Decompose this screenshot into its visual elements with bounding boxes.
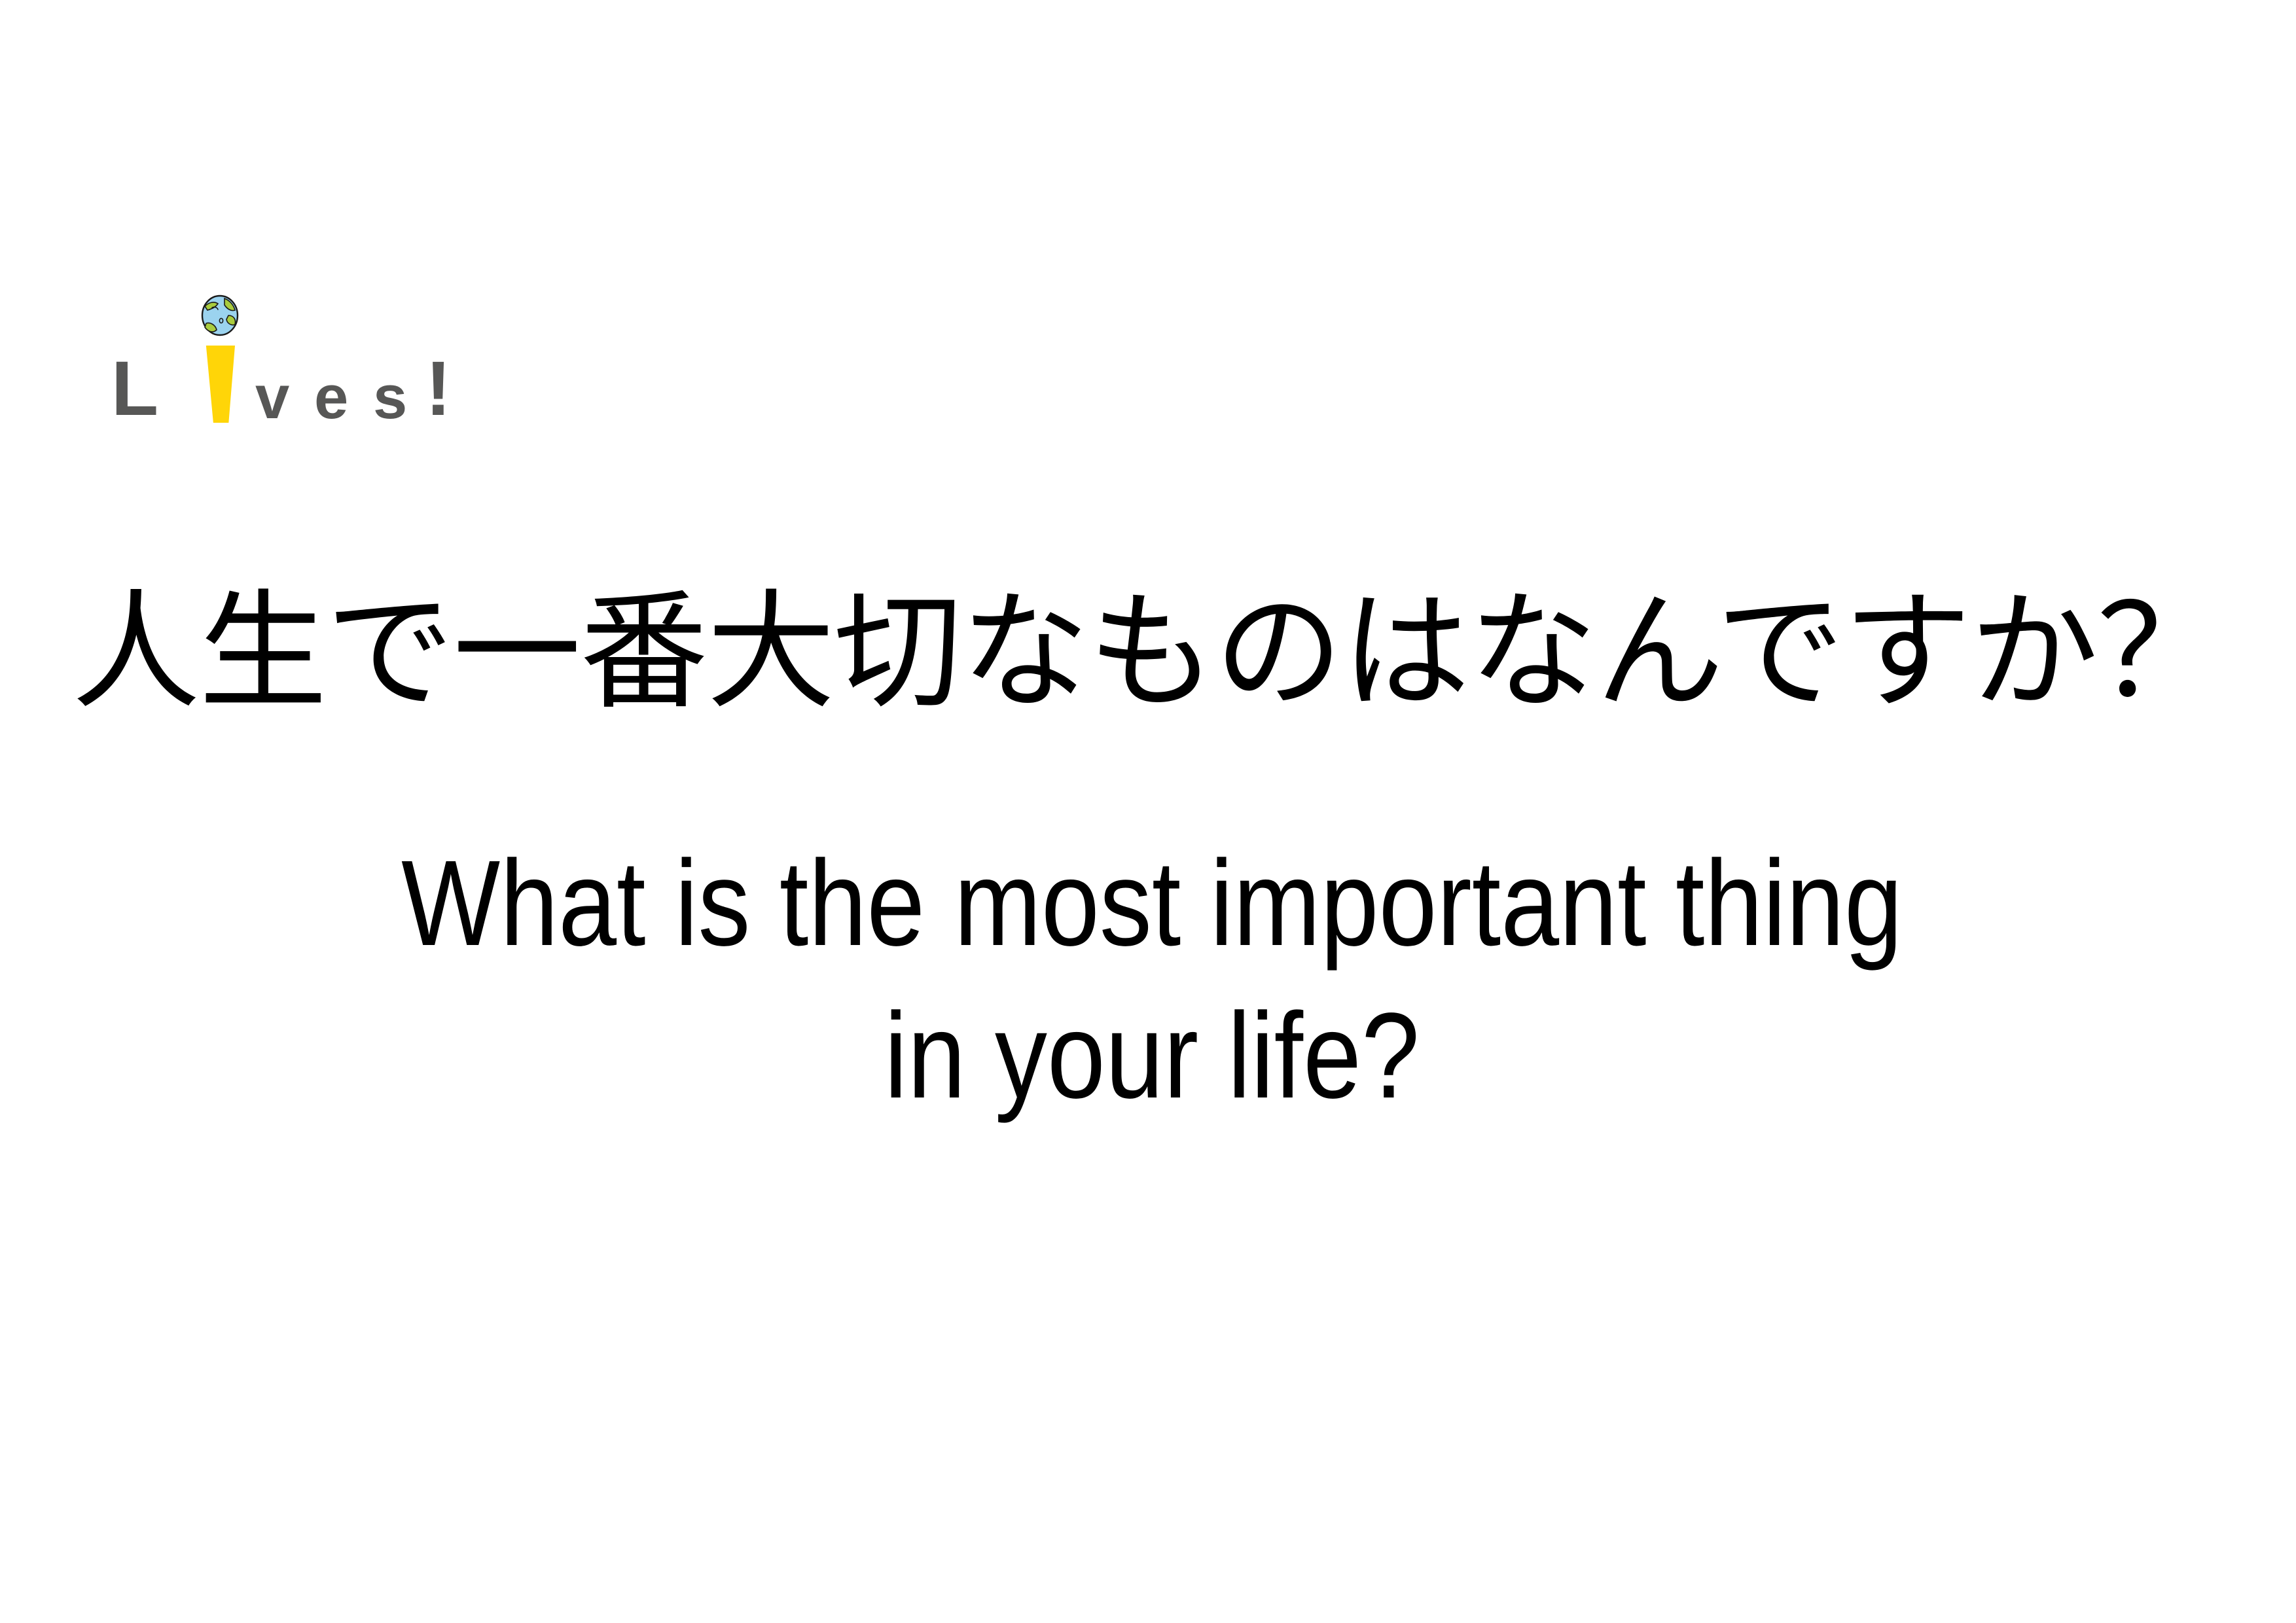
heading-english-line-1: What is the most important thing: [302, 828, 2001, 980]
lives-logo[interactable]: L v e s !: [111, 288, 569, 445]
logo-letter-s: s: [373, 366, 407, 428]
logo-letter-v: v: [255, 366, 289, 428]
logo-letter-l: L: [111, 350, 158, 427]
heading-english: What is the most important thing in your…: [302, 828, 2001, 1132]
logo-exclamation-mark: !: [425, 350, 451, 427]
logo-i-stem: [205, 346, 235, 423]
globe-icon: [200, 293, 240, 338]
logo-letter-e: e: [314, 366, 348, 428]
heading-english-line-2: in your life?: [302, 980, 2001, 1133]
slide-canvas: L v e s ! 人生で一番大切なものはなんですか？ What is the …: [0, 0, 2296, 1623]
heading-japanese: 人生で一番大切なものはなんですか？: [0, 579, 2296, 726]
